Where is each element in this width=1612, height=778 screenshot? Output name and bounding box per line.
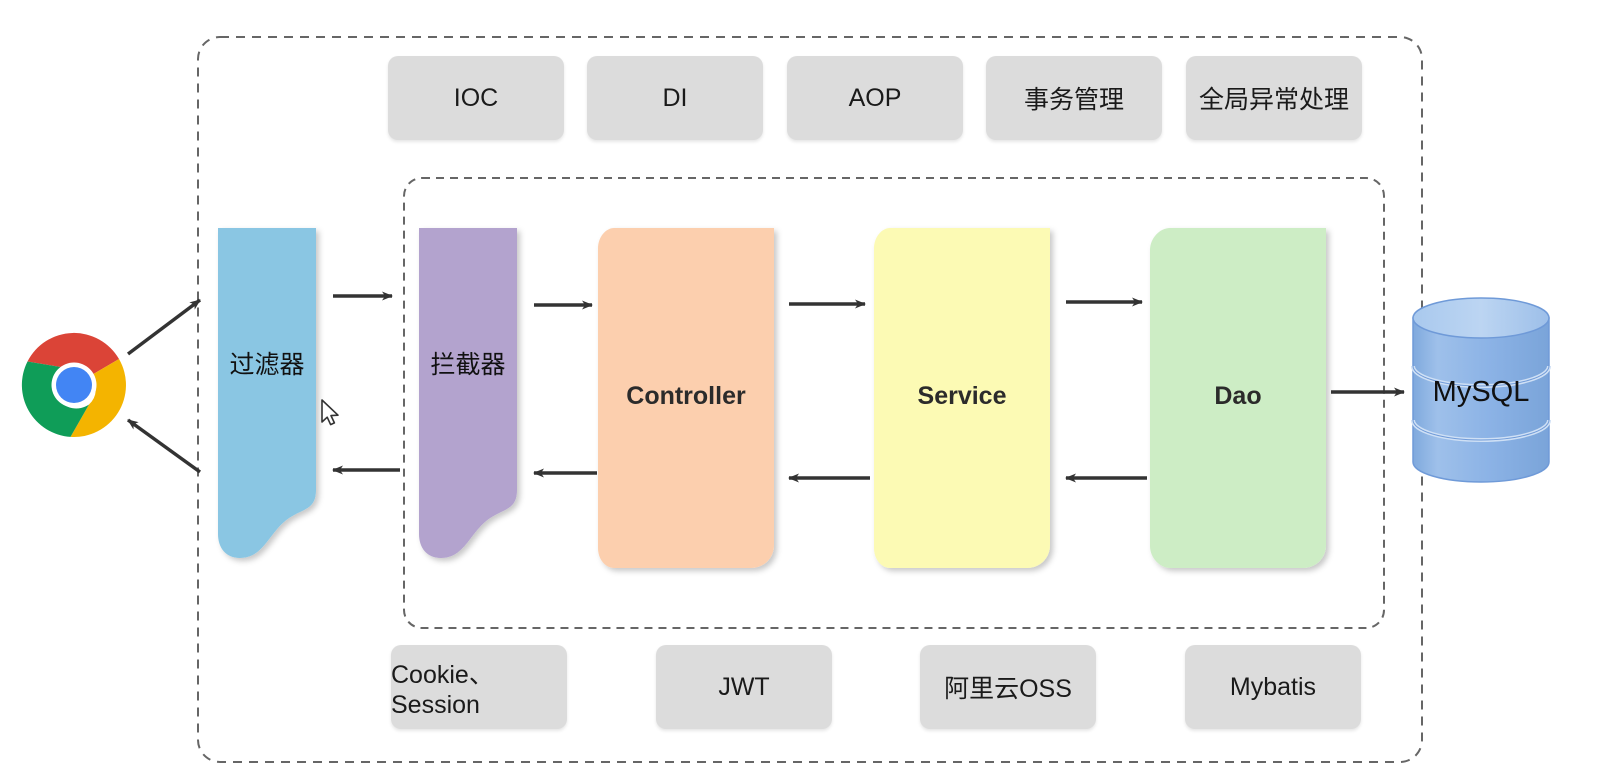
chrome-icon <box>22 333 126 437</box>
architecture-diagram-canvas: IOC DI AOP 事务管理 全局异常处理 Cookie、Session JW… <box>0 0 1612 778</box>
tech-box-mybatis-label: Mybatis <box>1230 673 1316 702</box>
feature-box-global-exception-handling[interactable]: 全局异常处理 <box>1186 56 1362 140</box>
service-shape <box>874 228 1050 568</box>
feature-box-aop-label: AOP <box>849 84 902 113</box>
tech-box-mybatis[interactable]: Mybatis <box>1185 645 1361 729</box>
feature-box-transaction-management[interactable]: 事务管理 <box>986 56 1162 140</box>
tech-box-aliyun-oss-label: 阿里云OSS <box>944 669 1072 705</box>
dao-shape <box>1150 228 1326 568</box>
feature-box-global-exception-handling-label: 全局异常处理 <box>1199 80 1349 116</box>
controller-shape <box>598 228 774 568</box>
filter-shape <box>218 228 316 558</box>
feature-box-di[interactable]: DI <box>587 56 763 140</box>
feature-box-transaction-management-label: 事务管理 <box>1024 80 1124 116</box>
feature-box-aop[interactable]: AOP <box>787 56 963 140</box>
tech-box-jwt-label: JWT <box>718 673 769 702</box>
database-cylinder-icon <box>1413 298 1549 482</box>
tech-box-aliyun-oss[interactable]: 阿里云OSS <box>920 645 1096 729</box>
arrow-client-to-filter <box>128 300 200 354</box>
feature-box-ioc-label: IOC <box>454 84 498 113</box>
feature-box-ioc[interactable]: IOC <box>388 56 564 140</box>
tech-box-cookie-session[interactable]: Cookie、Session <box>391 645 567 729</box>
mouse-pointer-icon <box>322 400 338 425</box>
tech-box-jwt[interactable]: JWT <box>656 645 832 729</box>
tech-box-cookie-session-label: Cookie、Session <box>391 655 567 720</box>
interceptor-shape <box>419 228 517 558</box>
feature-box-di-label: DI <box>663 84 688 113</box>
arrow-filter-to-client <box>128 420 200 472</box>
